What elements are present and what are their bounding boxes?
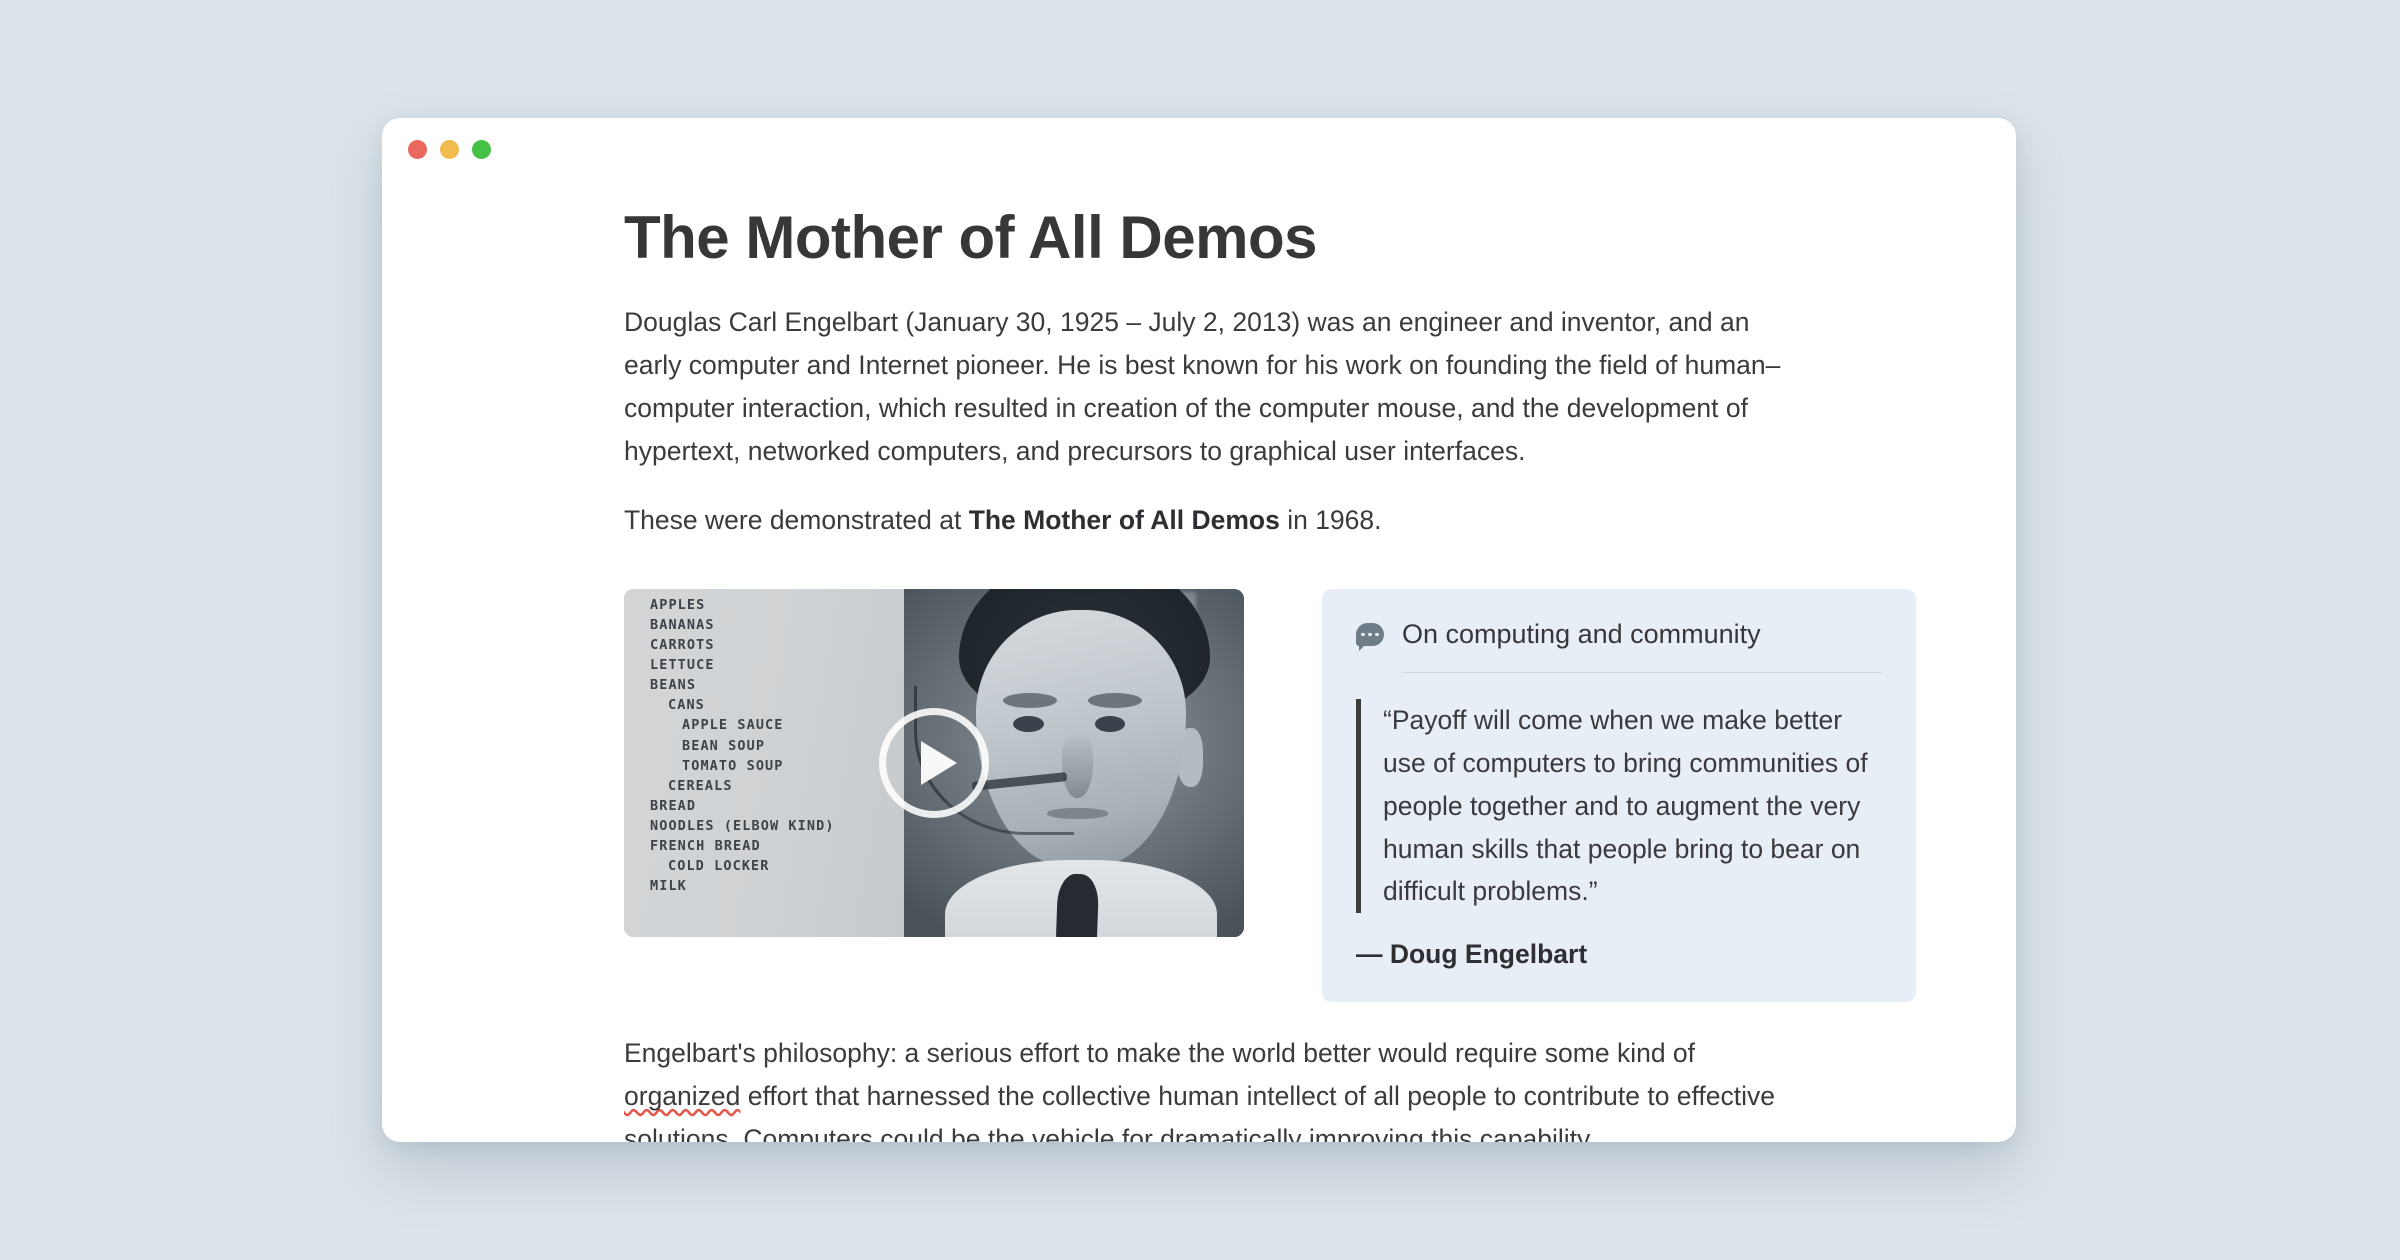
- window-titlebar: [382, 118, 2016, 180]
- grocery-list-item: COLD LOCKER: [624, 856, 904, 876]
- maximize-button[interactable]: [472, 140, 491, 159]
- intro-paragraph: Douglas Carl Engelbart (January 30, 1925…: [624, 301, 1789, 473]
- play-triangle-icon: [921, 741, 957, 785]
- grocery-list-item: BEAN SOUP: [624, 736, 904, 756]
- grocery-list-item: FRENCH BREAD: [624, 836, 904, 856]
- quote-card-title: On computing and community: [1402, 619, 1761, 650]
- grocery-list: ORANGESAPPLESBANANASCARROTSLETTUCEBEANSC…: [624, 589, 904, 897]
- grocery-list-item: CARROTS: [624, 635, 904, 655]
- philosophy-paragraph: Engelbart's philosophy: a serious effort…: [624, 1032, 1789, 1142]
- grocery-list-item: APPLES: [624, 595, 904, 615]
- speech-bubble-icon: [1356, 623, 1384, 646]
- quote-card-header: On computing and community: [1356, 619, 1882, 650]
- quote-text: “Payoff will come when we make better us…: [1383, 699, 1882, 914]
- grocery-list-item: TOMATO SOUP: [624, 756, 904, 776]
- grocery-list-item: BEANS: [624, 675, 904, 695]
- grocery-list-item: NOODLES (ELBOW KIND): [624, 816, 904, 836]
- grocery-list-item: MILK: [624, 876, 904, 896]
- portrait-tie: [1056, 873, 1099, 936]
- spellcheck-word[interactable]: organized: [624, 1081, 740, 1111]
- philosophy-after: effort that harnessed the collective hum…: [624, 1081, 1775, 1142]
- play-button[interactable]: [879, 708, 989, 818]
- article-content: The Mother of All Demos Douglas Carl Eng…: [382, 180, 2016, 1142]
- grocery-list-item: APPLE SAUCE: [624, 715, 904, 735]
- app-window: The Mother of All Demos Douglas Carl Eng…: [382, 118, 2016, 1142]
- quote-block: “Payoff will come when we make better us…: [1356, 699, 1882, 914]
- video-thumbnail[interactable]: ORANGESAPPLESBANANASCARROTSLETTUCEBEANSC…: [624, 589, 1244, 937]
- quote-card-divider: [1402, 672, 1882, 673]
- minimize-button[interactable]: [440, 140, 459, 159]
- grocery-list-item: LETTUCE: [624, 655, 904, 675]
- video-grocery-panel: ORANGESAPPLESBANANASCARROTSLETTUCEBEANSC…: [624, 589, 904, 937]
- demos-paragraph-before: These were demonstrated at: [624, 505, 969, 535]
- close-button[interactable]: [408, 140, 427, 159]
- demos-paragraph-emphasis: The Mother of All Demos: [969, 505, 1280, 535]
- quote-card: On computing and community “Payoff will …: [1322, 589, 1916, 1003]
- philosophy-before: Engelbart's philosophy: a serious effort…: [624, 1038, 1695, 1068]
- grocery-list-item: CEREALS: [624, 776, 904, 796]
- page-title: The Mother of All Demos: [624, 204, 1916, 271]
- demos-paragraph-after: in 1968.: [1280, 505, 1382, 535]
- grocery-list-item: BANANAS: [624, 615, 904, 635]
- grocery-list-item: CANS: [624, 695, 904, 715]
- media-row: ORANGESAPPLESBANANASCARROTSLETTUCEBEANSC…: [624, 589, 1916, 1003]
- demos-paragraph: These were demonstrated at The Mother of…: [624, 499, 1789, 542]
- quote-attribution: — Doug Engelbart: [1356, 939, 1882, 970]
- grocery-list-item: BREAD: [624, 796, 904, 816]
